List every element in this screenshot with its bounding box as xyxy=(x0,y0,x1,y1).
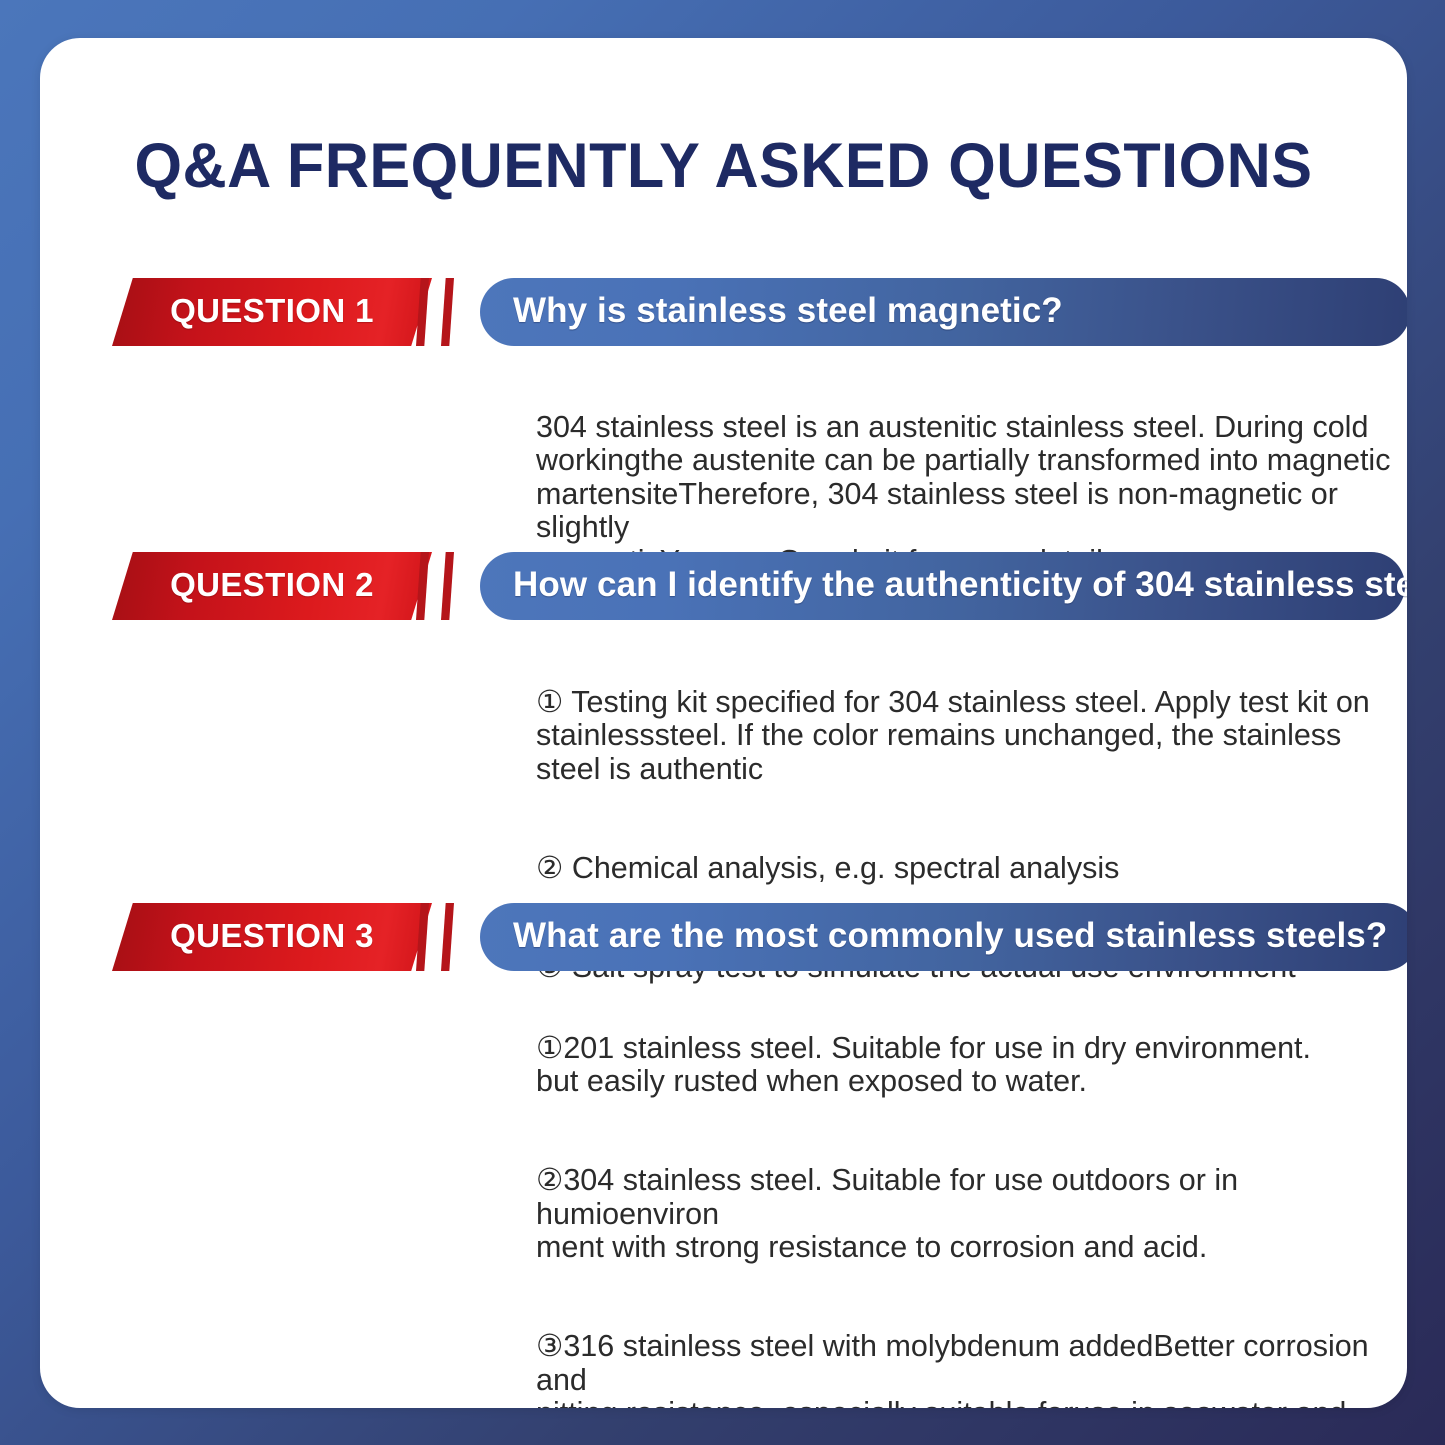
slash-icon xyxy=(441,903,454,971)
question-badge-1: QUESTION 1 xyxy=(112,278,432,346)
slash-icon xyxy=(441,552,454,620)
slash-icon xyxy=(441,278,454,346)
question-badge-2: QUESTION 2 xyxy=(112,552,432,620)
answer-paragraph: ③316 stainless steel with molybdenum add… xyxy=(536,1330,1407,1408)
question-pill-1: Why is stainless steel magnetic? xyxy=(480,278,1407,346)
question-pill-2: How can I identify the authenticity of 3… xyxy=(480,552,1405,620)
question-pill-3: What are the most commonly used stainles… xyxy=(480,903,1407,971)
faq-card: Q&A FREQUENTLY ASKED QUESTIONS QUESTION … xyxy=(40,38,1407,1408)
answer-paragraph: ①201 stainless steel. Suitable for use i… xyxy=(536,1032,1407,1099)
faq-row-1: QUESTION 1 Why is stainless steel magnet… xyxy=(40,278,1407,350)
faq-row-3: QUESTION 3 What are the most commonly us… xyxy=(40,903,1407,975)
faq-row-2: QUESTION 2 How can I identify the authen… xyxy=(40,552,1407,624)
answer-paragraph: ② Chemical analysis, e.g. spectral analy… xyxy=(536,852,1396,886)
answer-paragraph: ②304 stainless steel. Suitable for use o… xyxy=(536,1164,1407,1265)
faq-page: Q&A FREQUENTLY ASKED QUESTIONS QUESTION … xyxy=(0,0,1445,1445)
answer-paragraph: ① Testing kit specified for 304 stainles… xyxy=(536,686,1396,787)
question-badge-3: QUESTION 3 xyxy=(112,903,432,971)
page-title: Q&A FREQUENTLY ASKED QUESTIONS xyxy=(61,130,1387,202)
answer-3: ①201 stainless steel. Suitable for use i… xyxy=(536,998,1407,1408)
